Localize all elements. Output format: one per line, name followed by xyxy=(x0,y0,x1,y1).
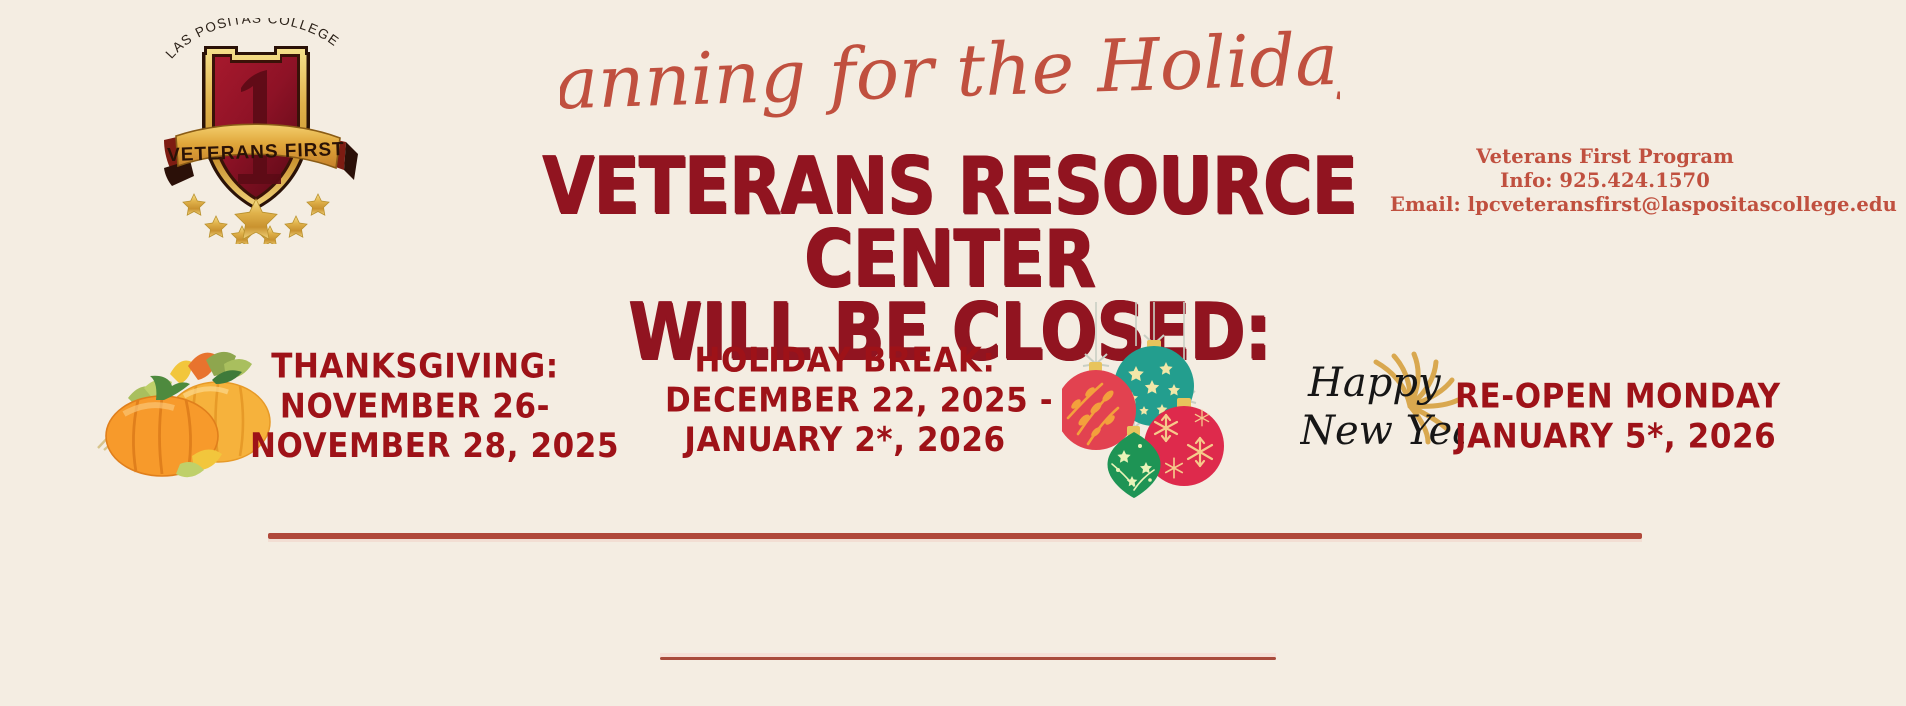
closure-holiday-break: HOLIDAY BREAK: DECEMBER 22, 2025 - JANUA… xyxy=(665,342,1025,461)
happy-new-year-svg: Happy New Year xyxy=(1300,338,1464,462)
closure-holiday-line-2: DECEMBER 22, 2025 - xyxy=(665,382,1025,422)
closure-thanksgiving-line-2: NOVEMBER 26- xyxy=(250,388,580,428)
contact-info: Info: 925.424.1570 xyxy=(1390,169,1820,193)
closure-thanksgiving: THANKSGIVING: NOVEMBER 26- NOVEMBER 28, … xyxy=(250,348,580,467)
headline-line-1: VETERANS RESOURCE CENTER xyxy=(543,141,1358,305)
script-title-text: Planning for the Holidays xyxy=(560,14,1340,124)
newyear-line-1: Happy xyxy=(1307,360,1442,406)
page-title: VETERANS RESOURCE CENTER WILL BE CLOSED: xyxy=(484,150,1415,369)
closure-thanksgiving-line-1: THANKSGIVING: xyxy=(250,348,580,388)
closure-thanksgiving-line-3: NOVEMBER 28, 2025 xyxy=(250,427,580,467)
newyear-line-2: New Year xyxy=(1300,408,1464,454)
divider-secondary xyxy=(660,657,1276,660)
closure-holiday-line-3: JANUARY 2*, 2026 xyxy=(665,421,1025,461)
happy-new-year-icon: Happy New Year xyxy=(1300,338,1464,462)
logo-stars xyxy=(183,194,329,244)
script-title-svg: Planning for the Holidays xyxy=(560,14,1340,124)
las-positas-veterans-first-logo: LAS POSITAS COLLEGE xyxy=(146,18,366,246)
divider-primary xyxy=(268,533,1642,539)
contact-block: Veterans First Program Info: 925.424.157… xyxy=(1390,145,1820,218)
closure-reopen-line-2: JANUARY 5*, 2026 xyxy=(1455,418,1755,458)
closure-reopen: RE-OPEN MONDAY JANUARY 5*, 2026 xyxy=(1455,378,1755,457)
logo-shield: VETERANS FIRST xyxy=(146,44,366,244)
ornaments-icon xyxy=(1062,300,1262,500)
contact-program: Veterans First Program xyxy=(1390,145,1820,169)
closure-reopen-line-1: RE-OPEN MONDAY xyxy=(1455,378,1755,418)
script-title: Planning for the Holidays xyxy=(560,14,1340,124)
ornaments-svg xyxy=(1062,300,1262,500)
holiday-closure-flyer: LAS POSITAS COLLEGE xyxy=(0,0,1906,706)
closure-holiday-line-1: HOLIDAY BREAK: xyxy=(665,342,1025,382)
contact-email[interactable]: Email: lpcveteransfirst@laspositascolleg… xyxy=(1390,193,1820,217)
